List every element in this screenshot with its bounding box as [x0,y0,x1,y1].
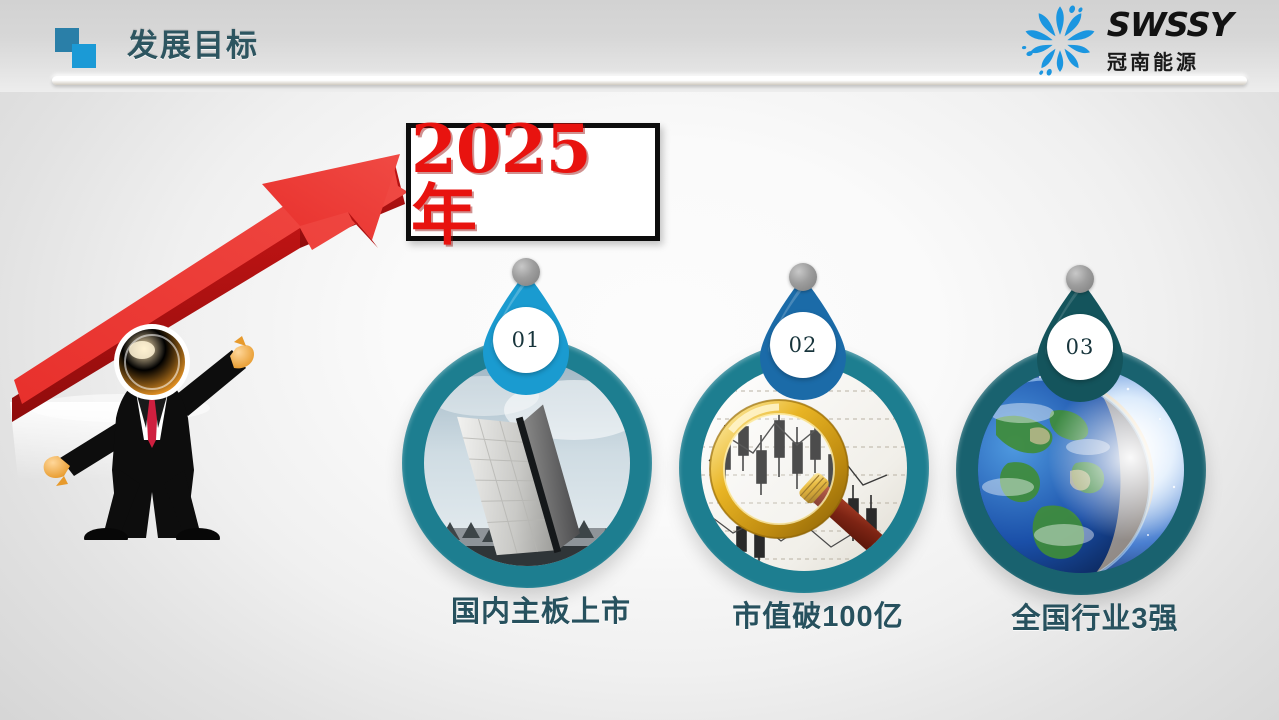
slide-header: 发展目标 [0,0,1279,92]
logo-text-block: SWSSY 冠南能源 [1107,5,1232,75]
goal-caption-01: 国内主板上市 [396,588,686,630]
goal-number-03: 03 [1066,335,1095,359]
goal-pin-ball-02 [789,263,817,291]
goal-pin-ball-01 [512,258,540,286]
logo-brand-name: SWSSY [1106,5,1233,44]
header-square-light-icon [72,44,96,68]
goal-pin-ball-03 [1066,265,1094,293]
goal-number-01: 01 [512,328,541,352]
goal-caption-02: 市值破100亿 [673,593,963,635]
year-text: 2025年 [411,116,655,248]
logo-brand-subtitle: 冠南能源 [1107,46,1232,75]
company-logo: SWSSY 冠南能源 [1021,2,1271,80]
goal-number-badge-02: 02 [770,312,836,378]
slide-canvas: 发展目标 [0,0,1279,720]
goal-caption-03: 全国行业3强 [950,595,1240,637]
goal-number-badge-01: 01 [493,307,559,373]
page-title: 发展目标 [127,20,259,65]
year-banner: 2025年 [406,123,660,241]
water-droplet-radial-icon [1021,4,1099,78]
businessman-on-rising-arrow-illustration [0,140,420,540]
goal-number-02: 02 [789,333,818,357]
goal-number-badge-03: 03 [1047,314,1113,380]
